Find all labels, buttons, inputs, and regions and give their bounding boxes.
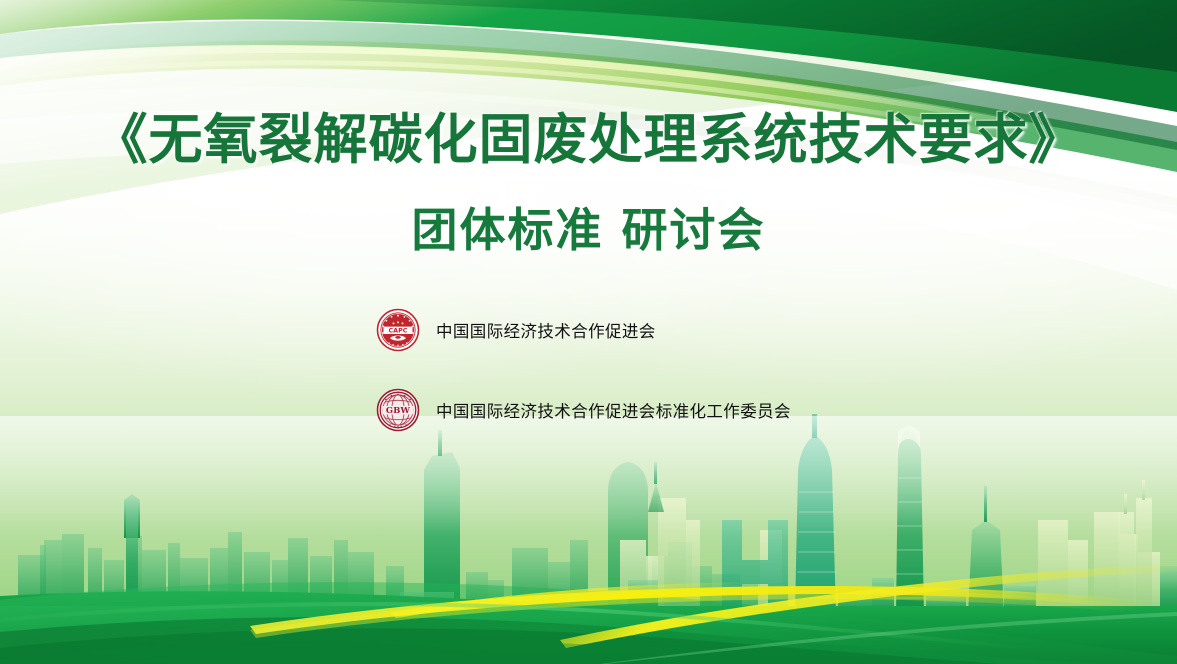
slide-subtitle-container: 团体标准 研讨会 — [0, 203, 1177, 258]
capc-seal-icon: CAPC — [376, 308, 420, 352]
organization-name: 中国国际经济技术合作促进会标准化工作委员会 — [436, 398, 791, 422]
gbw-seal-icon: GBW — [376, 388, 420, 432]
organization-list: CAPC 中国国际经济技术合作促进会 — [376, 306, 1136, 434]
slide-title-container: 《无氧裂解碳化固废处理系统技术要求》 — [0, 108, 1177, 172]
slide-subtitle: 团体标准 研讨会 — [0, 203, 1177, 258]
organization-row: GBW 中国国际经济技术合作促进会标准化工作委员会 — [376, 386, 1136, 434]
organization-name: 中国国际经济技术合作促进会 — [436, 318, 656, 342]
svg-text:CAPC: CAPC — [388, 327, 407, 335]
presentation-slide: 《无氧裂解碳化固废处理系统技术要求》 团体标准 研讨会 — [0, 0, 1177, 664]
slide-main-title: 《无氧裂解碳化固废处理系统技术要求》 — [0, 108, 1177, 172]
organization-row: CAPC 中国国际经济技术合作促进会 — [376, 306, 1136, 354]
svg-text:GBW: GBW — [386, 405, 411, 415]
